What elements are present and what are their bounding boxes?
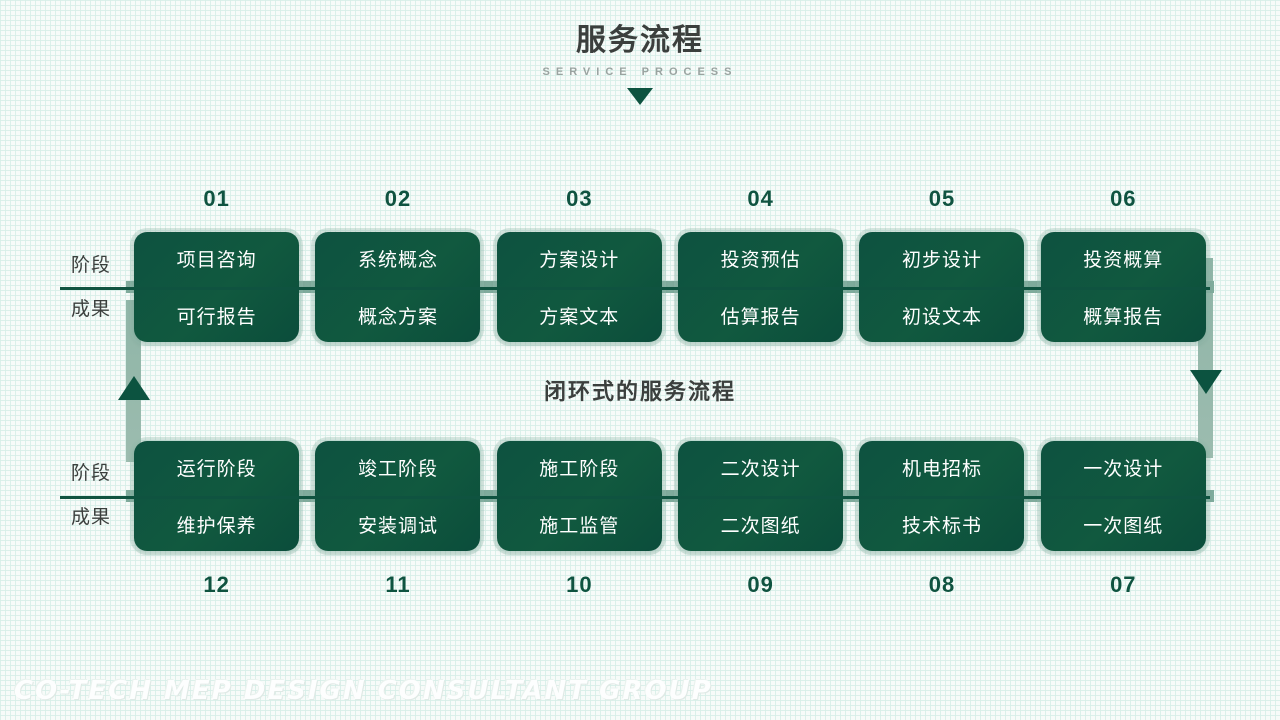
result-label: 成果 [55,288,127,332]
step-number: 11 [307,572,488,598]
page-subtitle: SERVICE PROCESS [0,66,1280,78]
step-number: 09 [670,572,851,598]
card-result-text: 概算报告 [1041,287,1206,342]
card-result-text: 估算报告 [678,287,843,342]
card-stage-text: 初步设计 [859,232,1024,287]
step-number: 12 [126,572,307,598]
card-stage-text: 竣工阶段 [315,441,480,496]
card-result-text: 一次图纸 [1041,496,1206,551]
card-result-text: 施工监管 [497,496,662,551]
slide-canvas: 服务流程 SERVICE PROCESS 01 02 03 04 05 06 阶… [0,0,1280,720]
bottom-row-numbers: 12 11 10 09 08 07 [126,572,1214,598]
card-stage-text: 系统概念 [315,232,480,287]
card-stage-text: 施工阶段 [497,441,662,496]
card-result-text: 方案文本 [497,287,662,342]
result-label: 成果 [55,496,127,540]
card-result-text: 技术标书 [859,496,1024,551]
step-number: 05 [851,186,1032,212]
card-stage-text: 一次设计 [1041,441,1206,496]
card-stage-text: 投资概算 [1041,232,1206,287]
card-result-text: 维护保养 [134,496,299,551]
stage-label: 阶段 [55,244,127,288]
card-result-text: 初设文本 [859,287,1024,342]
card-stage-text: 二次设计 [678,441,843,496]
step-number: 08 [851,572,1032,598]
card-result-text: 概念方案 [315,287,480,342]
card-result-text: 可行报告 [134,287,299,342]
card-stage-text: 机电招标 [859,441,1024,496]
bottom-row-divider [60,496,1210,499]
slide-header: 服务流程 SERVICE PROCESS [0,22,1280,105]
card-stage-text: 运行阶段 [134,441,299,496]
top-row-numbers: 01 02 03 04 05 06 [126,186,1214,212]
card-result-text: 二次图纸 [678,496,843,551]
step-number: 10 [489,572,670,598]
step-number: 04 [670,186,851,212]
step-number: 03 [489,186,670,212]
page-title: 服务流程 [0,22,1280,60]
card-stage-text: 方案设计 [497,232,662,287]
step-number: 02 [307,186,488,212]
card-result-text: 安装调试 [315,496,480,551]
step-number: 06 [1033,186,1214,212]
card-stage-text: 投资预估 [678,232,843,287]
center-caption: 闭环式的服务流程 [0,374,1280,406]
step-number: 07 [1033,572,1214,598]
step-number: 01 [126,186,307,212]
top-row-divider [60,287,1210,290]
footer-brand: CO-TECH MEP DESIGN CONSULTANT GROUP [14,676,713,706]
card-stage-text: 项目咨询 [134,232,299,287]
triangle-down-icon [627,88,653,105]
stage-label: 阶段 [55,452,127,496]
